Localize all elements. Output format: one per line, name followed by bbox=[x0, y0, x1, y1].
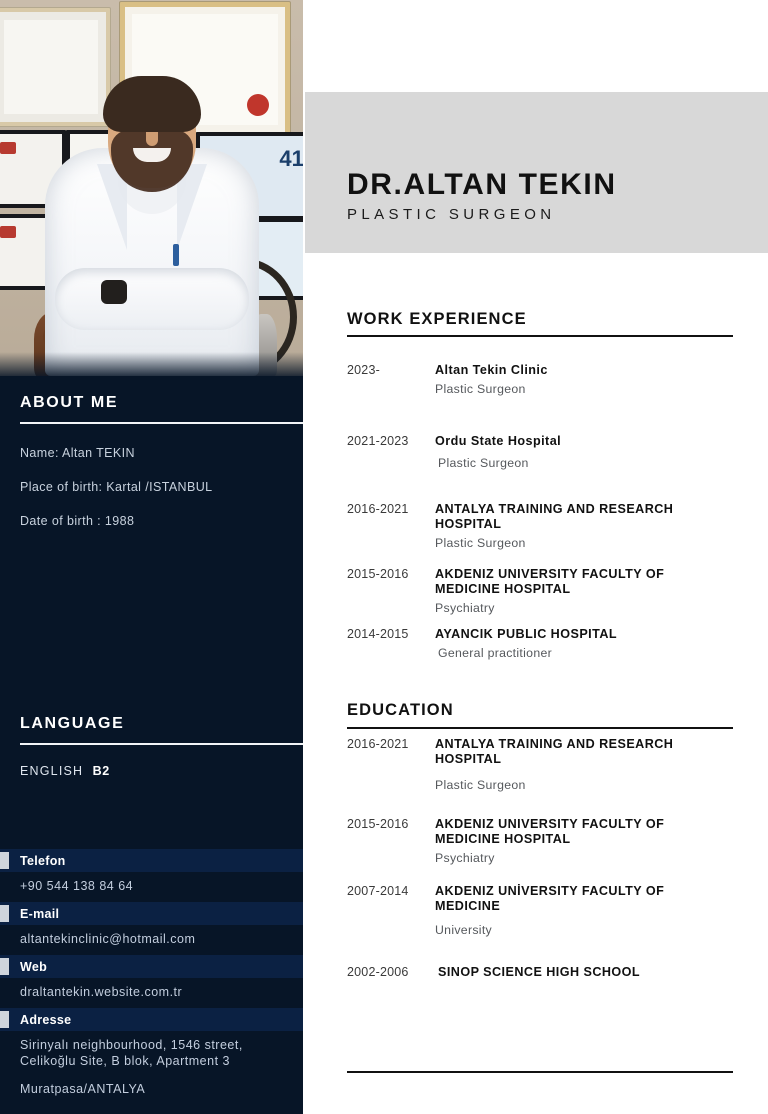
work-entry-title: Ordu State Hospital bbox=[435, 434, 747, 449]
photo-bottom-fade bbox=[0, 352, 303, 376]
work-entry: 2015-2016 AKDENIZ UNIVERSITY FACULTY OF … bbox=[347, 567, 747, 615]
education-entry: 2002-2006 SINOP SCIENCE HIGH SCHOOL bbox=[347, 965, 747, 980]
education-entry-date: 2007-2014 bbox=[347, 884, 431, 898]
about-birthdate-line: Date of birth : 1988 bbox=[0, 514, 303, 528]
work-experience-divider bbox=[347, 335, 733, 337]
mail-icon bbox=[0, 905, 9, 922]
education-divider bbox=[347, 727, 733, 729]
crossed-arms bbox=[55, 268, 249, 330]
language-section: LANGUAGE ENGLISH B2 bbox=[0, 715, 303, 778]
about-me-divider bbox=[20, 422, 303, 424]
contact-label-email: E-mail bbox=[0, 902, 303, 925]
work-entry: 2021-2023 Ordu State Hospital Plastic Su… bbox=[347, 434, 747, 470]
about-name-line: Name: Altan TEKIN bbox=[0, 446, 303, 460]
education-entry-sub: Plastic Surgeon bbox=[435, 778, 740, 792]
language-title: LANGUAGE bbox=[0, 715, 303, 733]
contact-label-web: Web bbox=[0, 955, 303, 978]
profile-photo: 41. bbox=[0, 0, 303, 376]
work-entry-title: Altan Tekin Clinic bbox=[435, 363, 747, 378]
contact-value-email[interactable]: altantekinclinic@hotmail.com bbox=[0, 925, 303, 955]
education-entry-title: SINOP SCIENCE HIGH SCHOOL bbox=[438, 965, 747, 980]
wristwatch bbox=[101, 280, 127, 304]
work-entry-sub: Plastic Surgeon bbox=[435, 536, 740, 550]
education-title: EDUCATION bbox=[347, 701, 454, 720]
contact-label-text: Adresse bbox=[20, 1013, 71, 1027]
footer-divider bbox=[347, 1071, 733, 1073]
globe-icon bbox=[0, 958, 9, 975]
education-entry: 2007-2014 AKDENIZ UNİVERSITY FACULTY OF … bbox=[347, 884, 747, 937]
language-name: ENGLISH bbox=[20, 764, 83, 778]
work-entry-sub: Plastic Surgeon bbox=[435, 382, 747, 396]
hair bbox=[103, 76, 201, 132]
language-item: ENGLISH B2 bbox=[0, 764, 303, 778]
work-entry-title: AKDENIZ UNIVERSITY FACULTY OF MEDICINE H… bbox=[435, 567, 725, 597]
work-entry-sub: General practitioner bbox=[438, 646, 747, 660]
language-divider bbox=[20, 743, 303, 745]
certificate-number: 41. bbox=[279, 146, 303, 172]
education-entry-date: 2015-2016 bbox=[347, 817, 431, 831]
education-entry: 2015-2016 AKDENIZ UNIVERSITY FACULTY OF … bbox=[347, 817, 747, 865]
language-level: B2 bbox=[93, 764, 110, 778]
certificate-tag bbox=[0, 226, 16, 238]
phone-icon bbox=[0, 852, 9, 869]
contact-value-adresse: Sirinyalı neighbourhood, 1546 street, Ce… bbox=[0, 1031, 303, 1071]
work-entry-date: 2021-2023 bbox=[347, 434, 431, 448]
work-entry-title: AYANCIK PUBLIC HOSPITAL bbox=[435, 627, 747, 642]
work-entry-title: ANTALYA TRAINING AND RESEARCH HOSPITAL bbox=[435, 502, 740, 532]
work-entry-sub: Psychiatry bbox=[435, 601, 725, 615]
sidebar: 41. bbox=[0, 0, 303, 1114]
education-entry-sub: Psychiatry bbox=[435, 851, 725, 865]
contact-value-web[interactable]: draltantekin.website.com.tr bbox=[0, 978, 303, 1008]
work-experience-title: WORK EXPERIENCE bbox=[347, 310, 527, 329]
pocket-pen bbox=[173, 244, 179, 266]
cv-page: 41. bbox=[0, 0, 768, 1114]
education-entry-date: 2002-2006 bbox=[347, 965, 431, 979]
about-me-title: ABOUT ME bbox=[0, 394, 303, 412]
work-entry: 2016-2021 ANTALYA TRAINING AND RESEARCH … bbox=[347, 502, 747, 550]
work-entry-date: 2015-2016 bbox=[347, 567, 431, 581]
contact-label-text: E-mail bbox=[20, 907, 59, 921]
work-entry-date: 2014-2015 bbox=[347, 627, 431, 641]
work-entry: 2023- Altan Tekin Clinic Plastic Surgeon bbox=[347, 363, 747, 396]
work-entry-sub: Plastic Surgeon bbox=[438, 456, 747, 470]
education-entry-sub: University bbox=[435, 923, 725, 937]
job-title: PLASTIC SURGEON bbox=[347, 206, 556, 223]
contact-label-text: Web bbox=[20, 960, 47, 974]
about-me-section: ABOUT ME Name: Altan TEKIN Place of birt… bbox=[0, 394, 303, 528]
certificate-tag bbox=[0, 142, 16, 154]
contact-value-telefon[interactable]: +90 544 138 84 64 bbox=[0, 872, 303, 902]
contact-value-city: Muratpasa/ANTALYA bbox=[0, 1071, 303, 1105]
work-entry-date: 2023- bbox=[347, 363, 431, 377]
contact-section: Telefon +90 544 138 84 64 E-mail altante… bbox=[0, 849, 303, 1105]
education-entry: 2016-2021 ANTALYA TRAINING AND RESEARCH … bbox=[347, 737, 747, 792]
education-entry-title: AKDENIZ UNİVERSITY FACULTY OF MEDICINE bbox=[435, 884, 725, 914]
education-entry-date: 2016-2021 bbox=[347, 737, 431, 751]
work-entry: 2014-2015 AYANCIK PUBLIC HOSPITAL Genera… bbox=[347, 627, 747, 660]
work-entry-date: 2016-2021 bbox=[347, 502, 431, 516]
about-birthplace-line: Place of birth: Kartal /ISTANBUL bbox=[0, 480, 303, 494]
contact-label-adresse: Adresse bbox=[0, 1008, 303, 1031]
contact-label-telefon: Telefon bbox=[0, 849, 303, 872]
pin-icon bbox=[0, 1011, 9, 1028]
education-entry-title: AKDENIZ UNIVERSITY FACULTY OF MEDICINE H… bbox=[435, 817, 725, 847]
education-entry-title: ANTALYA TRAINING AND RESEARCH HOSPITAL bbox=[435, 737, 740, 767]
doctor-figure bbox=[45, 76, 259, 376]
contact-label-text: Telefon bbox=[20, 854, 66, 868]
page-title: DR.ALTAN TEKIN bbox=[347, 168, 617, 202]
